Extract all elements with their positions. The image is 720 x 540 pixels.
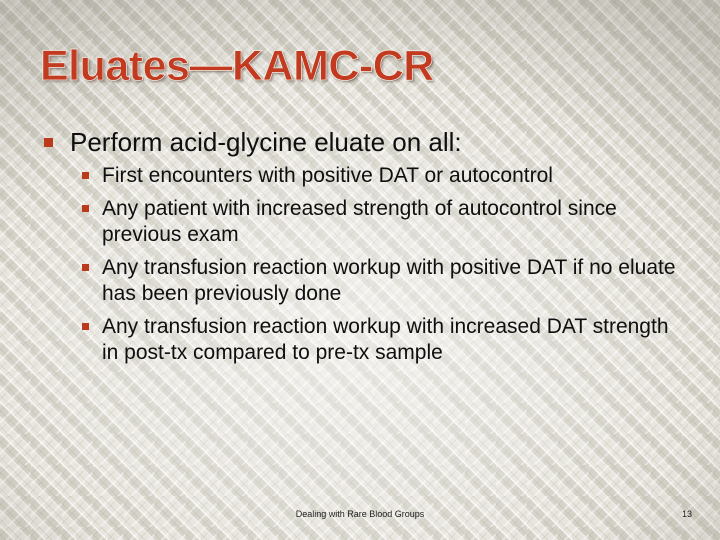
slide: Eluates—KAMC-CR Perform acid-glycine elu… — [0, 0, 720, 540]
bullet-square-icon — [82, 323, 89, 330]
bullet-square-icon — [82, 172, 89, 179]
slide-content: Eluates—KAMC-CR Perform acid-glycine elu… — [0, 0, 720, 540]
bullet-level2-text: First encounters with positive DAT or au… — [102, 164, 553, 187]
bullet-level2-text: Any transfusion reaction workup with pos… — [102, 256, 676, 305]
bullet-level2-list: First encounters with positive DAT or au… — [40, 163, 685, 366]
bullet-level2-item: Any transfusion reaction workup with pos… — [81, 255, 685, 307]
bullet-square-icon — [82, 205, 89, 212]
slide-title: Eluates—KAMC-CR — [40, 40, 680, 92]
footer-title: Dealing with Rare Blood Groups — [0, 509, 720, 519]
bullet-level2-item: First encounters with positive DAT or au… — [81, 163, 685, 189]
bullet-square-icon — [44, 138, 53, 147]
bullet-level2-text: Any patient with increased strength of a… — [102, 197, 617, 246]
bullet-level1-item: Perform acid-glycine eluate on all: — [40, 126, 685, 159]
bullet-level2-item: Any transfusion reaction workup with inc… — [81, 314, 685, 366]
slide-page-number: 13 — [682, 509, 692, 519]
bullet-square-icon — [82, 264, 89, 271]
bullet-level2-text: Any transfusion reaction workup with inc… — [102, 315, 669, 364]
bullet-level1-text: Perform acid-glycine eluate on all: — [70, 127, 462, 157]
bullet-level2-item: Any patient with increased strength of a… — [81, 196, 685, 248]
body-content-list: Perform acid-glycine eluate on all: Firs… — [40, 126, 685, 373]
